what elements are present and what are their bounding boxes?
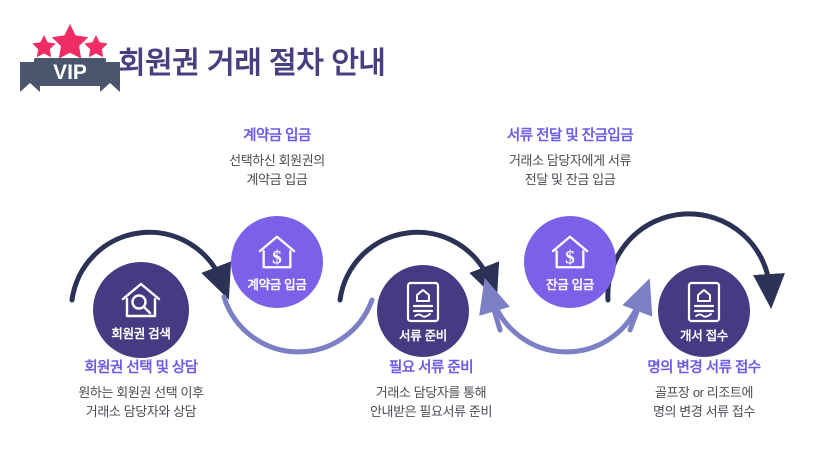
step-3-circle[interactable]: 서류 준비	[377, 265, 469, 357]
step-2-circle-label: 계약금 입금	[247, 279, 306, 292]
step-4-caption: 서류 전달 및 잔금입금 거래소 담당자에게 서류 전달 및 잔금 입금	[455, 128, 685, 190]
step-4-body-line-2: 전달 및 잔금 입금	[455, 171, 685, 190]
step-2-heading: 계약금 입금	[162, 128, 392, 145]
step-4-circle[interactable]: $ 잔금 입금	[524, 216, 616, 308]
step-1-body-line-1: 원하는 회원권 선택 이후	[26, 384, 256, 403]
document-house-icon	[404, 280, 442, 329]
step-3-body: 거래소 담당자를 통해 안내받은 필요서류 준비	[316, 384, 546, 422]
step-5-body-line-2: 명의 변경 서류 접수	[589, 403, 819, 422]
step-5-circle[interactable]: 개서 접수	[658, 265, 750, 357]
svg-text:$: $	[272, 247, 282, 268]
step-2-caption: 계약금 입금 선택하신 회원권의 계약금 입금	[162, 128, 392, 190]
step-5-caption: 명의 변경 서류 접수 골프장 or 리조트에 명의 변경 서류 접수	[589, 360, 819, 422]
house-search-icon	[119, 280, 163, 327]
step-4-body: 거래소 담당자에게 서류 전달 및 잔금 입금	[455, 152, 685, 190]
step-3-circle-label: 서류 준비	[399, 330, 447, 343]
house-dollar-icon: $	[256, 233, 298, 278]
step-5-body-line-1: 골프장 or 리조트에	[589, 384, 819, 403]
step-5-body: 골프장 or 리조트에 명의 변경 서류 접수	[589, 384, 819, 422]
step-1-body: 원하는 회원권 선택 이후 거래소 담당자와 상담	[26, 384, 256, 422]
step-4-heading: 서류 전달 및 잔금입금	[455, 128, 685, 145]
infographic-page: VIP 회원권 거래 절차 안내	[0, 0, 835, 470]
document-house-icon	[685, 280, 723, 329]
step-2-body: 선택하신 회원권의 계약금 입금	[162, 152, 392, 190]
arc-light-1	[224, 297, 372, 352]
step-3-heading: 필요 서류 준비	[316, 360, 546, 377]
step-1-circle-label: 회원권 검색	[111, 328, 170, 341]
step-1-body-line-2: 거래소 담당자와 상담	[26, 403, 256, 422]
step-3-body-line-1: 거래소 담당자를 통해	[316, 384, 546, 403]
step-1-caption: 회원권 선택 및 상담 원하는 회원권 선택 이후 거래소 담당자와 상담	[26, 360, 256, 422]
step-3-caption: 필요 서류 준비 거래소 담당자를 통해 안내받은 필요서류 준비	[316, 360, 546, 422]
step-5-circle-label: 개서 접수	[680, 330, 728, 343]
step-4-circle-label: 잔금 입금	[546, 279, 594, 292]
step-5-heading: 명의 변경 서류 접수	[589, 360, 819, 377]
step-4-body-line-1: 거래소 담당자에게 서류	[455, 152, 685, 171]
step-3-body-line-2: 안내받은 필요서류 준비	[316, 403, 546, 422]
step-2-body-line-1: 선택하신 회원권의	[162, 152, 392, 171]
svg-text:$: $	[565, 247, 575, 268]
step-2-circle[interactable]: $ 계약금 입금	[231, 216, 323, 308]
house-dollar-icon: $	[549, 233, 591, 278]
step-1-circle[interactable]: 회원권 검색	[93, 262, 189, 358]
step-1-heading: 회원권 선택 및 상담	[26, 360, 256, 377]
step-2-body-line-2: 계약금 입금	[162, 171, 392, 190]
